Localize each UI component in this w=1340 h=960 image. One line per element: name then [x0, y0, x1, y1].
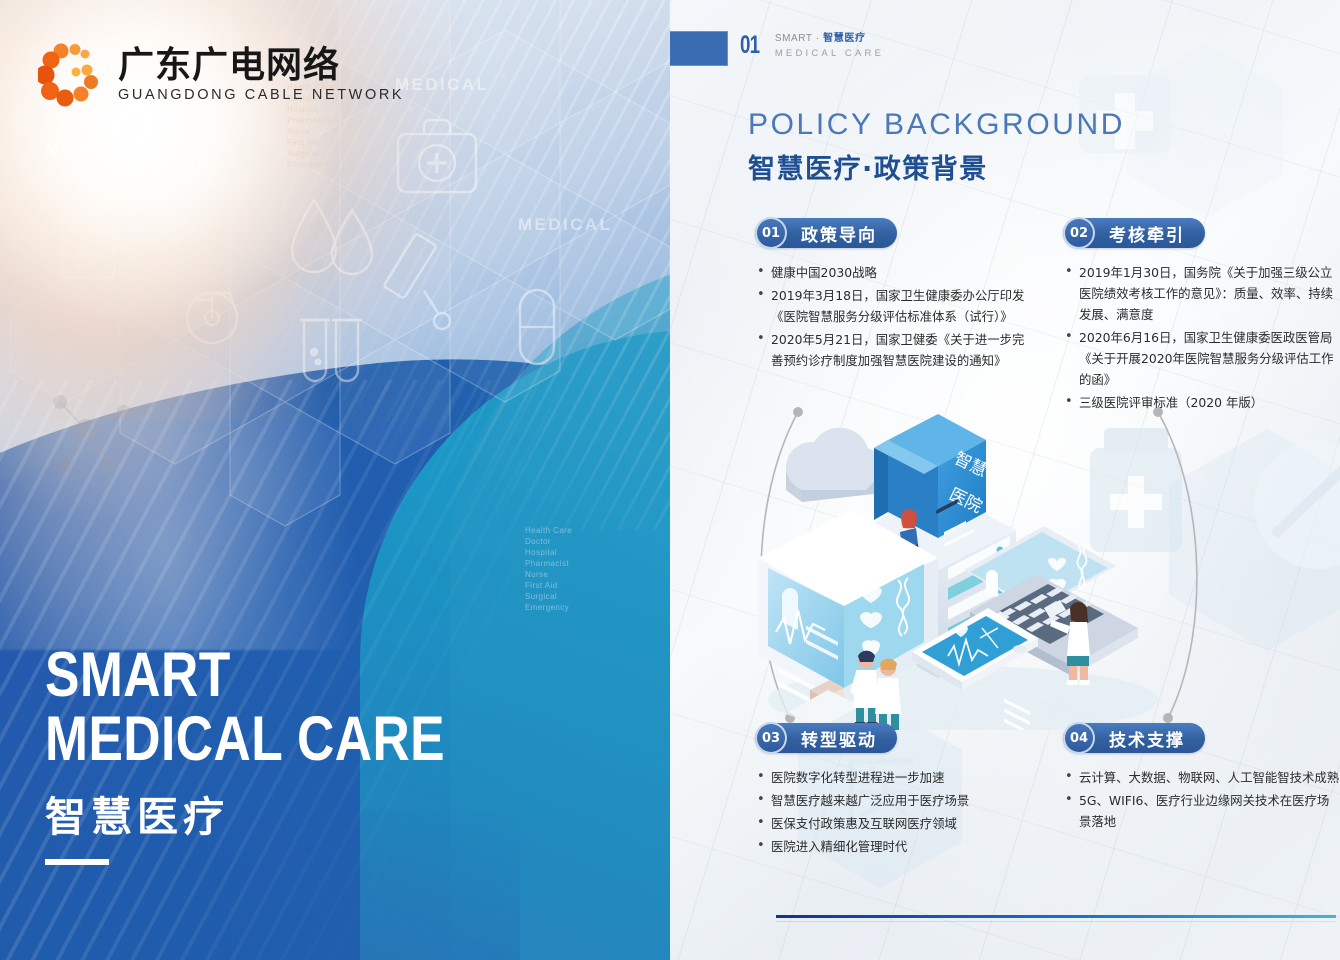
block-label-3: 转型驱动 [801, 726, 877, 751]
block-number-1: 01 [755, 217, 787, 249]
block-badge-2[interactable]: 考核牵引 02 [1063, 217, 1205, 249]
list-item: 三级医院评审标准（2020 年版） [1065, 392, 1340, 413]
page-header-tab [670, 31, 728, 66]
content-block-1: 政策导向 01 健康中国2030战略 2019年3月18日，国家卫生健康委办公厅… [755, 217, 1030, 373]
page-kicker-line2: MEDICAL CARE [775, 48, 884, 59]
cover-title: SMART MEDICAL CARE 智慧医疗 [45, 643, 533, 866]
page-footer-rule [776, 915, 1336, 918]
logo-title-cn: 广东广电网络 [118, 47, 404, 85]
block-badge-3[interactable]: 转型驱动 03 [755, 722, 897, 754]
list-item: 5G、WIFI6、医疗行业边缘网关技术在医疗场景落地 [1065, 790, 1340, 832]
list-item: 医院数字化转型进程进一步加速 [757, 767, 1030, 788]
cover-title-line1: SMART [45, 643, 445, 707]
block-bullets-4: 云计算、大数据、物联网、人工智能智技术成熟 5G、WIFI6、医疗行业边缘网关技… [1063, 767, 1340, 832]
logo-title-en: GUANGDONG CABLE NETWORK [118, 87, 404, 103]
block-number-4: 04 [1063, 722, 1095, 754]
list-item: 医院进入精细化管理时代 [757, 836, 1030, 857]
list-item: 2019年3月18日，国家卫生健康委办公厅印发《医院智慧服务分级评估标准体系（试… [757, 285, 1030, 327]
watermark-small-text-2: Health Care Doctor Hospital Pharmacist N… [525, 525, 572, 613]
page-footer-rule-thin [776, 921, 1336, 922]
block-bullets-3: 医院数字化转型进程进一步加速 智慧医疗越来越广泛应用于医疗场景 医保支付政策惠及… [755, 767, 1030, 857]
block-label-2: 考核牵引 [1109, 221, 1185, 246]
list-item: 健康中国2030战略 [757, 262, 1030, 283]
brand-logo: 广东广电网络 GUANGDONG CABLE NETWORK [38, 42, 404, 108]
block-number-2: 02 [1063, 217, 1095, 249]
cloud-icon [786, 428, 883, 502]
list-item: 2020年6月16日，国家卫生健康委医政医管局《关于开展2020年医院智慧服务分… [1065, 327, 1340, 390]
watermark-word-medical-3: MEDICAL [518, 215, 612, 235]
list-item: 2019年1月30日，国务院《关于加强三级公立医院绩效考核工作的意见》：质量、效… [1065, 262, 1340, 325]
block-label-4: 技术支撑 [1109, 726, 1185, 751]
content-block-2: 考核牵引 02 2019年1月30日，国务院《关于加强三级公立医院绩效考核工作的… [1063, 217, 1340, 415]
list-item: 智慧医疗越来越广泛应用于医疗场景 [757, 790, 1030, 811]
g-dots-logo-icon [38, 42, 104, 108]
page-title-en: POLICY BACKGROUND [748, 108, 1125, 141]
block-label-1: 政策导向 [801, 221, 877, 246]
block-number-3: 03 [755, 722, 787, 754]
isometric-smart-hospital-illustration: 智慧 医院 [748, 400, 1178, 730]
list-item: 2020年5月21日，国家卫健委《关于进一步完善预约诊疗制度加强智慧医院建设的通… [757, 329, 1030, 371]
cover-title-cn: 智慧医疗 [45, 783, 533, 843]
page-title: POLICY BACKGROUND 智慧医疗·政策背景 [748, 108, 1125, 186]
cover-title-underline [45, 859, 109, 865]
cover-page: MEDICAL MEDICAL MEDICAL Health Care Doct… [0, 0, 670, 960]
page-kicker-line1: SMART · 智慧医疗 [775, 33, 884, 46]
block-badge-4[interactable]: 技术支撑 04 [1063, 722, 1205, 754]
cover-title-line2: MEDICAL CARE [45, 707, 445, 771]
block-bullets-1: 健康中国2030战略 2019年3月18日，国家卫生健康委办公厅印发《医院智慧服… [755, 262, 1030, 371]
watermark-word-medical-1: MEDICAL [45, 140, 139, 160]
content-block-3: 转型驱动 03 医院数字化转型进程进一步加速 智慧医疗越来越广泛应用于医疗场景 … [755, 722, 1030, 859]
logo-text: 广东广电网络 GUANGDONG CABLE NETWORK [118, 47, 404, 104]
list-item: 医保支付政策惠及互联网医疗领域 [757, 813, 1030, 834]
watermark-word-medical-2: MEDICAL [395, 75, 489, 95]
block-badge-1[interactable]: 政策导向 01 [755, 217, 897, 249]
pill-watermark-icon [1248, 435, 1340, 575]
content-block-4: 技术支撑 04 云计算、大数据、物联网、人工智能智技术成熟 5G、WIFI6、医… [1063, 722, 1340, 834]
page-title-cn: 智慧医疗·政策背景 [748, 147, 1125, 186]
page-kicker-number: 01 [740, 33, 759, 58]
list-item: 云计算、大数据、物联网、人工智能智技术成熟 [1065, 767, 1340, 788]
block-bullets-2: 2019年1月30日，国务院《关于加强三级公立医院绩效考核工作的意见》：质量、效… [1063, 262, 1340, 413]
brochure-spread: MEDICAL MEDICAL MEDICAL Health Care Doct… [0, 0, 1340, 960]
page-kicker: 01 SMART · 智慧医疗 MEDICAL CARE [740, 33, 884, 59]
